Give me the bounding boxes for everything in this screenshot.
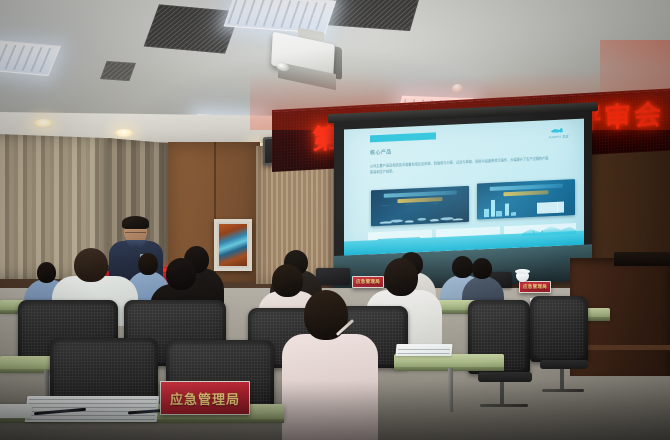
recessed-downlight (33, 119, 53, 128)
tower-render (483, 193, 522, 217)
table-nameplate-text: 应急管理局 (170, 389, 240, 408)
logo-mark-icon (551, 124, 568, 134)
audience-torso (282, 334, 378, 440)
foreground-document (0, 404, 33, 418)
chair-mesh-back (534, 300, 584, 358)
panel-caption-bar (384, 190, 457, 197)
logo-text: GAOFU 高孚 (544, 134, 574, 139)
table-nameplate: 应急管理局 (160, 381, 250, 415)
slide-title: 核心产品 (370, 148, 392, 156)
desk-nameplate: 应急管理局 (519, 281, 551, 293)
mesh-office-chair[interactable] (530, 296, 588, 362)
recessed-downlight (114, 129, 134, 138)
ceiling-projector (272, 32, 344, 82)
chair-seat[interactable] (540, 360, 588, 369)
tank-render (536, 200, 569, 214)
slide-body-text: 公司主要产品及相关技术装备包括反应系统、精馏塔与分离、过滤与萃取、吸收与结晶等单… (370, 156, 555, 176)
conference-desk (394, 354, 504, 368)
slide-accent-bar (370, 132, 436, 142)
desk-paper (395, 344, 452, 356)
company-logo: GAOFU 高孚 (544, 124, 574, 142)
panel-subcaption-bar (397, 197, 442, 203)
slide-photo-panel (477, 179, 575, 219)
desk-nameplate-text: 应急管理局 (523, 284, 547, 290)
slide-photo-panel (371, 186, 469, 226)
chair-post (500, 382, 504, 404)
eyeglasses-icon (125, 228, 146, 233)
foreground-document (25, 396, 160, 422)
chair-seat[interactable] (478, 372, 532, 382)
chair-base (480, 404, 528, 407)
panel-caption-bar (490, 184, 563, 191)
audience-head (384, 258, 418, 296)
chair-base (542, 389, 584, 392)
right-podium-top (614, 252, 670, 266)
equipment-render (375, 202, 465, 224)
ceiling-vent-grille (144, 4, 241, 53)
desk-leg (448, 368, 453, 412)
audience-member (282, 290, 378, 440)
audience-head (74, 248, 108, 282)
chair-post (560, 369, 564, 389)
smoke-detector-icon (452, 84, 463, 93)
audience-head (472, 258, 492, 279)
audience-head (166, 258, 196, 290)
paper-ruled-lines (27, 398, 157, 420)
paper-ruled-lines (398, 346, 451, 354)
presentation-slide: 核心产品 GAOFU 高孚 公司主要产品及相关技术装备包括反应系统、精馏塔与分离… (344, 119, 584, 256)
conference-room-photo: 第五届 评审会 核心产品 GAOFU 高孚 公司主要产品及相关技术装备包括反应系… (0, 0, 670, 440)
